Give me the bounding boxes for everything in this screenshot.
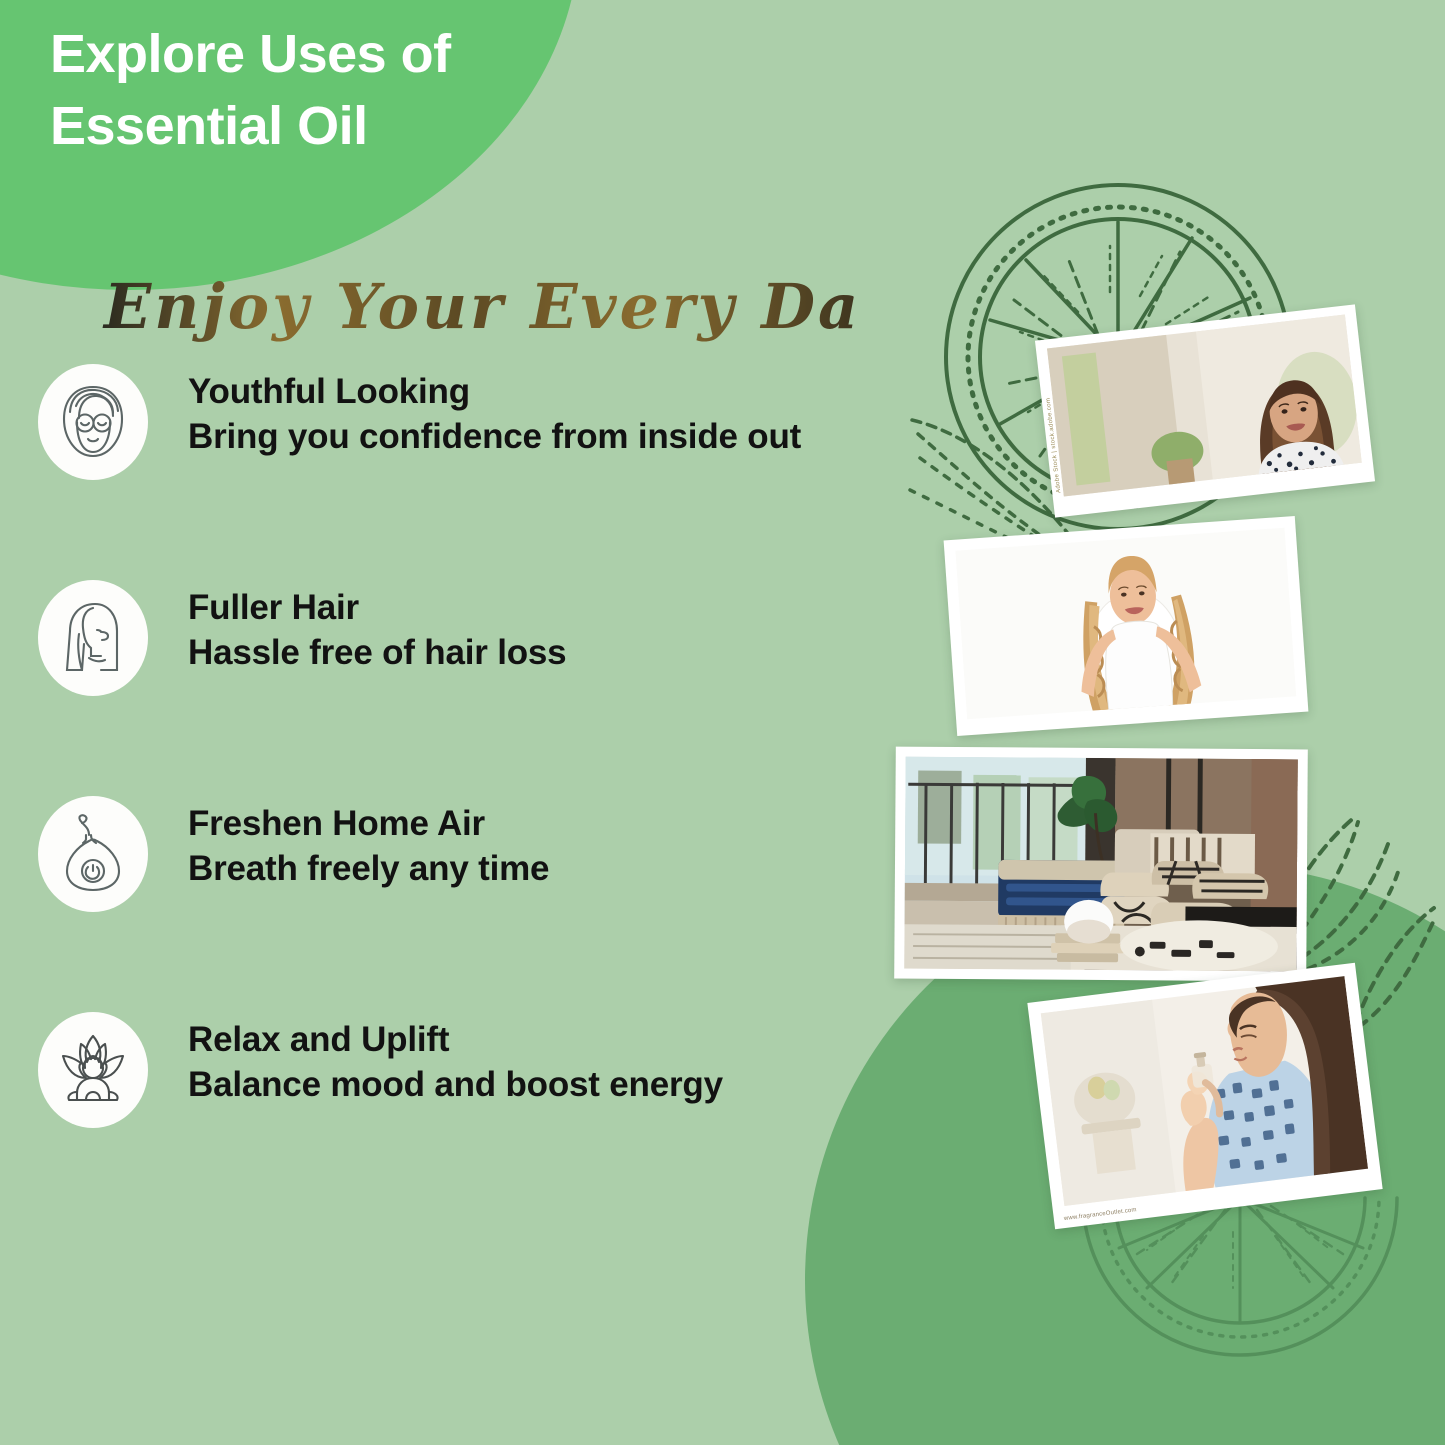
long-hair-profile-icon bbox=[38, 580, 148, 696]
feature-item-youthful-looking: Youthful Looking Bring you confidence fr… bbox=[0, 352, 1000, 568]
page-title: Explore Uses of Essential Oil bbox=[50, 18, 690, 163]
feature-text-youthful-looking: Youthful Looking Bring you confidence fr… bbox=[188, 370, 998, 460]
feature-title: Freshen Home Air bbox=[188, 802, 998, 847]
feature-subtitle: Breath freely any time bbox=[188, 847, 998, 892]
citrus-slice-bottom-icon bbox=[1075, 1192, 1405, 1402]
feature-title: Relax and Uplift bbox=[188, 1018, 998, 1063]
feature-list: Youthful Looking Bring you confidence fr… bbox=[0, 352, 1000, 1216]
photo-4-scene bbox=[1041, 976, 1368, 1206]
photo-4-watermark: www.fragranceOutlet.com bbox=[1064, 1207, 1137, 1222]
page-title-line-2: Essential Oil bbox=[50, 90, 690, 162]
page-title-line-1: Explore Uses of bbox=[50, 18, 690, 90]
feature-item-relax-and-uplift: Relax and Uplift Balance mood and boost … bbox=[0, 1000, 1000, 1216]
feature-subtitle: Balance mood and boost energy bbox=[188, 1063, 998, 1108]
face-mask-icon bbox=[38, 364, 148, 480]
feature-title: Fuller Hair bbox=[188, 586, 998, 631]
feature-subtitle: Hassle free of hair loss bbox=[188, 631, 998, 676]
photo-smiling-brunette-woman: Adobe Stock | stock.adobe.com bbox=[1035, 304, 1375, 517]
aroma-diffuser-icon bbox=[38, 796, 148, 912]
feature-title: Youthful Looking bbox=[188, 370, 998, 415]
photo-1-scene bbox=[1047, 315, 1362, 497]
feature-item-freshen-home-air: Freshen Home Air Breath freely any time bbox=[0, 784, 1000, 1000]
feature-subtitle: Bring you confidence from inside out bbox=[188, 415, 998, 460]
feature-item-fuller-hair: Fuller Hair Hassle free of hair loss bbox=[0, 568, 1000, 784]
feature-text-freshen-home-air: Freshen Home Air Breath freely any time bbox=[188, 802, 998, 892]
lotus-meditation-icon bbox=[38, 1012, 148, 1128]
tagline-script: Enjoy Your Every Day bbox=[100, 252, 860, 362]
photo-woman-applying-perfume: www.fragranceOutlet.com bbox=[1027, 963, 1382, 1230]
poster-canvas: Explore Uses of Essential Oil Enjoy Your… bbox=[0, 0, 1445, 1445]
photo-2-scene bbox=[955, 528, 1296, 720]
tagline-text: Enjoy Your Every Day bbox=[102, 270, 860, 343]
feature-text-fuller-hair: Fuller Hair Hassle free of hair loss bbox=[188, 586, 998, 676]
feature-text-relax-and-uplift: Relax and Uplift Balance mood and boost … bbox=[188, 1018, 998, 1108]
